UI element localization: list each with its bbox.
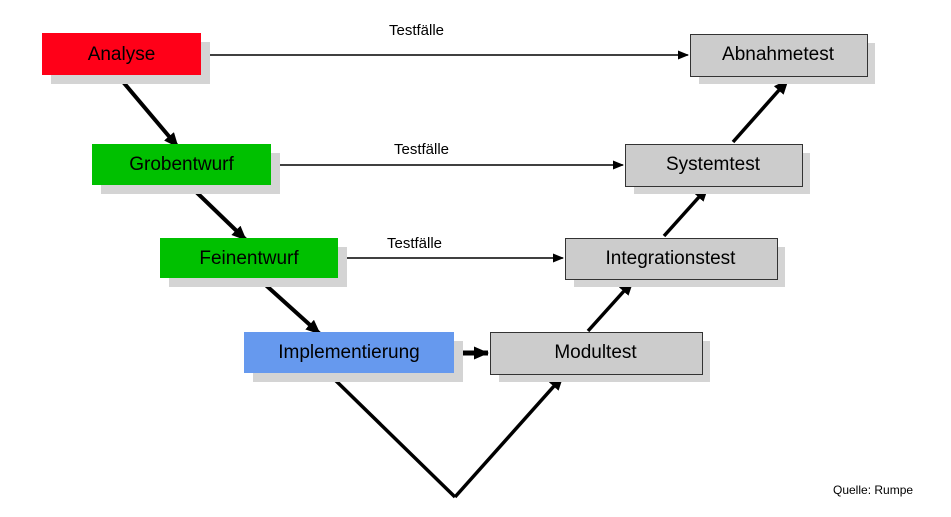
node-label: Implementierung bbox=[278, 343, 420, 362]
edge-feinentwurf-to-implementierung bbox=[259, 279, 320, 334]
edge-integrationstest-to-systemtest bbox=[664, 187, 708, 236]
edge-label-testfaelle-3: Testfälle bbox=[387, 235, 442, 252]
node-label: Systemtest bbox=[666, 155, 760, 174]
node-label: Analyse bbox=[88, 45, 156, 64]
edge-systemtest-to-abnahmetest bbox=[733, 80, 788, 142]
node-modultest[interactable]: Modultest bbox=[490, 332, 701, 373]
v-model-diagram: Analyse Grobentwurf Feinentwurf Implemen… bbox=[0, 0, 951, 517]
node-analyse[interactable]: Analyse bbox=[42, 33, 201, 75]
edge-implementierung-v-bottom bbox=[330, 375, 455, 497]
node-integrationstest[interactable]: Integrationstest bbox=[565, 238, 776, 278]
node-abnahmetest[interactable]: Abnahmetest bbox=[690, 34, 866, 75]
node-implementierung[interactable]: Implementierung bbox=[244, 332, 454, 373]
edge-v-bottom-to-modultest bbox=[455, 376, 563, 497]
node-systemtest[interactable]: Systemtest bbox=[625, 144, 801, 185]
edge-grobentwurf-to-feinentwurf bbox=[190, 186, 246, 240]
node-label: Integrationstest bbox=[606, 249, 736, 268]
edge-label-testfaelle-1: Testfälle bbox=[389, 22, 444, 39]
node-label: Modultest bbox=[554, 343, 636, 362]
node-label: Grobentwurf bbox=[129, 155, 234, 174]
node-label: Feinentwurf bbox=[199, 249, 298, 268]
source-note: Quelle: Rumpe bbox=[833, 483, 913, 497]
node-label: Abnahmetest bbox=[722, 45, 834, 64]
node-grobentwurf[interactable]: Grobentwurf bbox=[92, 144, 271, 185]
edge-modultest-to-integrationstest bbox=[588, 281, 633, 331]
edge-analyse-to-grobentwurf bbox=[118, 76, 178, 147]
edge-label-testfaelle-2: Testfälle bbox=[394, 141, 449, 158]
node-feinentwurf[interactable]: Feinentwurf bbox=[160, 238, 338, 278]
